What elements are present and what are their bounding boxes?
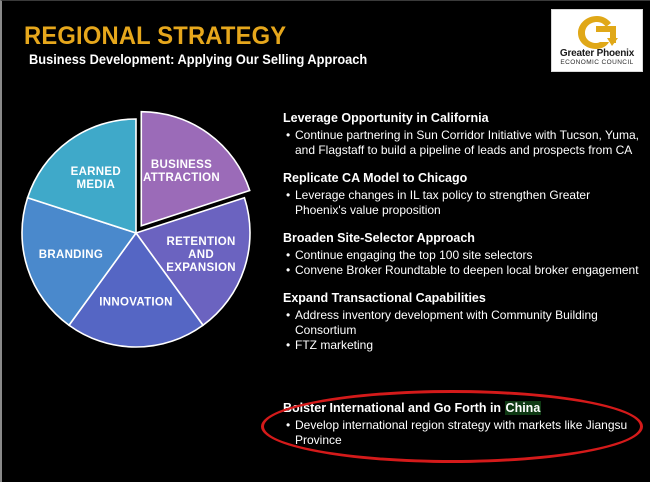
pie-slice-label: EARNEDMEDIA: [71, 166, 121, 191]
highlighted-topic-block: Bolster International and Go Forth in Ch…: [283, 401, 645, 448]
strategy-pie-chart: BUSINESSATTRACTIONRETENTIONANDEXPANSIONI…: [20, 105, 276, 367]
highlighted-topic-title: Bolster International and Go Forth in Ch…: [283, 401, 645, 417]
bullet-dot-icon: •: [286, 338, 295, 353]
topic-bullet: •Leverage changes in IL tax policy to st…: [283, 188, 645, 218]
highlighted-topic-bullet-text: Develop international region strategy wi…: [295, 418, 645, 448]
topic-bullet-text: Continue partnering in Sun Corridor Init…: [295, 128, 645, 158]
topic-bullet: •Continue engaging the top 100 site sele…: [283, 248, 645, 263]
highlighted-topic-title-prefix: Bolster International and Go Forth in: [283, 401, 505, 415]
topic-block: Leverage Opportunity in California•Conti…: [283, 111, 645, 158]
bullet-dot-icon: •: [286, 188, 295, 218]
page-title: REGIONAL STRATEGY: [24, 23, 499, 49]
topic-block: Expand Transactional Capabilities•Addres…: [283, 291, 645, 353]
pie-slice-label: BRANDING: [39, 249, 103, 261]
topic-bullet-text: Address inventory development with Commu…: [295, 308, 645, 338]
slide-canvas: REGIONAL STRATEGY Business Development: …: [0, 0, 650, 482]
highlighted-topic-keyword: China: [505, 401, 542, 415]
greater-phoenix-g-logo-icon: [552, 12, 642, 50]
highlighted-topic-bullet: •Develop international region strategy w…: [283, 418, 645, 448]
topic-title: Replicate CA Model to Chicago: [283, 171, 645, 187]
pie-slice-label: INNOVATION: [99, 296, 173, 308]
topic-block: Replicate CA Model to Chicago•Leverage c…: [283, 171, 645, 218]
header-block: REGIONAL STRATEGY Business Development: …: [24, 23, 524, 68]
pie-slice-label: BUSINESSATTRACTION: [143, 159, 220, 184]
topic-title: Leverage Opportunity in California: [283, 111, 645, 127]
highlighted-topic-bullets: •Develop international region strategy w…: [283, 418, 645, 448]
topic-block: Broaden Site-Selector Approach•Continue …: [283, 231, 645, 278]
topic-bullet: •FTZ marketing: [283, 338, 645, 353]
bullet-dot-icon: •: [286, 263, 295, 278]
topic-title: Expand Transactional Capabilities: [283, 291, 645, 307]
topic-bullet: •Address inventory development with Comm…: [283, 308, 645, 338]
logo-tagline: ECONOMIC COUNCIL: [552, 60, 642, 67]
strategy-topic-list: Leverage Opportunity in California•Conti…: [283, 111, 645, 367]
pie-slices-group: [22, 112, 250, 347]
topic-title: Broaden Site-Selector Approach: [283, 231, 645, 247]
organization-logo: Greater Phoenix ECONOMIC COUNCIL: [551, 9, 643, 72]
topic-bullet-text: FTZ marketing: [295, 338, 645, 353]
logo-organization-name: Greater Phoenix: [552, 49, 642, 59]
topic-bullet-text: Leverage changes in IL tax policy to str…: [295, 188, 645, 218]
topic-bullet: •Continue partnering in Sun Corridor Ini…: [283, 128, 645, 158]
bullet-dot-icon: •: [286, 418, 295, 448]
topic-bullet-text: Continue engaging the top 100 site selec…: [295, 248, 645, 263]
bullet-dot-icon: •: [286, 128, 295, 158]
topic-bullet-text: Convene Broker Roundtable to deepen loca…: [295, 263, 645, 278]
bullet-dot-icon: •: [286, 248, 295, 263]
pie-chart-svg: BUSINESSATTRACTIONRETENTIONANDEXPANSIONI…: [20, 105, 276, 367]
bullet-dot-icon: •: [286, 308, 295, 338]
topic-bullet: •Convene Broker Roundtable to deepen loc…: [283, 263, 645, 278]
page-subtitle: Business Development: Applying Our Selli…: [29, 53, 499, 68]
